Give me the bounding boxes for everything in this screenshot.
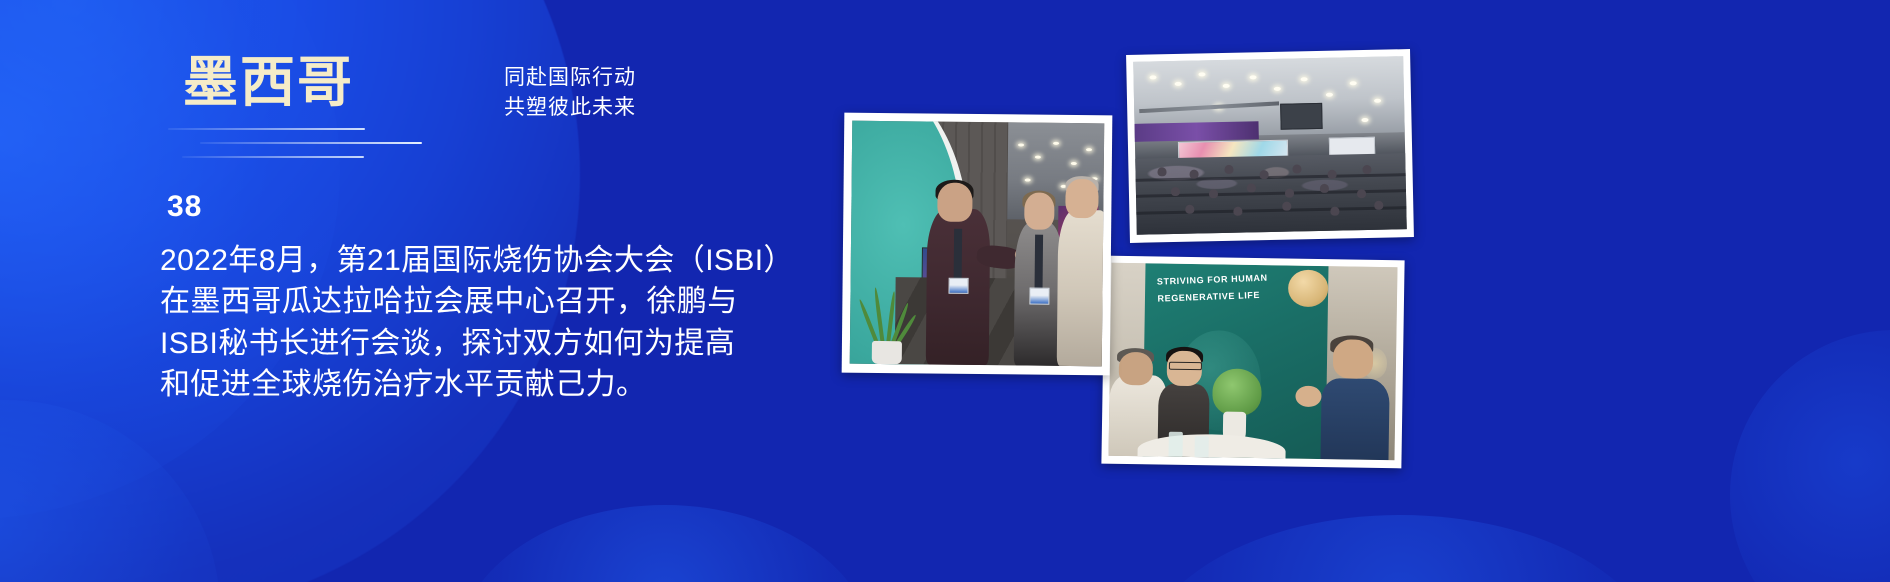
hall-ceiling-light — [1274, 86, 1281, 90]
booth-ceiling-light — [1018, 144, 1024, 147]
audience-head — [1327, 170, 1336, 179]
title-underline-decoration — [160, 128, 420, 170]
booth-person-left-head — [937, 182, 973, 221]
audience-row — [1136, 173, 1406, 182]
audience-head — [1357, 189, 1366, 198]
decor-line-3 — [182, 156, 364, 158]
subtitle-line-1: 同赴国际行动 — [504, 63, 636, 93]
audience-head — [1284, 189, 1293, 198]
audience-head — [1260, 170, 1269, 179]
audience-head — [1157, 167, 1166, 176]
slide-title: 墨西哥 — [183, 55, 354, 110]
audience-head — [1171, 187, 1180, 196]
booth-person-right-head — [1065, 179, 1098, 218]
body-line: 2022年8月，第21届国际烧伤协会大会（ISBI） — [160, 240, 820, 281]
hall-ceiling-light — [1326, 92, 1333, 96]
slide-subtitle: 同赴国际行动 共塑彼此未来 — [504, 63, 636, 123]
audience-head — [1246, 184, 1255, 193]
booth-ceiling-light — [1025, 179, 1031, 182]
booth-badge — [1029, 288, 1049, 305]
meeting-person-center-glasses — [1168, 362, 1202, 370]
booth-lanyard — [1034, 234, 1042, 292]
hall-ceiling-light — [1150, 75, 1157, 79]
meeting-person-left-head — [1118, 352, 1153, 385]
water-bottle — [1194, 436, 1209, 457]
booth-ceiling-light — [1086, 148, 1092, 151]
photo-conference-hall — [1126, 49, 1414, 243]
meeting-person-right-head — [1333, 340, 1374, 379]
booth-ceiling-light — [1053, 142, 1059, 145]
hall-hanging-monitor — [1280, 103, 1323, 130]
subtitle-line-2: 共塑彼此未来 — [504, 93, 636, 123]
conference-hall-image — [1133, 56, 1407, 235]
audience-head — [1362, 164, 1371, 173]
photo-collage: STRIVING FOR HUMAN REGENERATIVE LIFE — [820, 0, 1890, 582]
photo-table-meeting: STRIVING FOR HUMAN REGENERATIVE LIFE — [1101, 256, 1404, 469]
body-line: 在墨西哥瓜达拉哈拉会展中心召开，徐鹏与 — [160, 281, 820, 322]
booth-conversation-image — [850, 121, 1105, 367]
audience-head — [1292, 164, 1301, 173]
booth-ceiling-light — [1070, 162, 1076, 165]
presentation-slide: 墨西哥 同赴国际行动 共塑彼此未来 38 2022年8月，第21届国际烧伤协会大… — [0, 0, 1890, 582]
booth-person-center-head — [1024, 193, 1055, 230]
audience-head — [1224, 164, 1233, 173]
hall-ceiling-light — [1250, 75, 1257, 79]
decor-line-1 — [168, 128, 365, 130]
audience-head — [1282, 201, 1291, 210]
audience-head — [1209, 189, 1218, 198]
booth-badge — [949, 277, 969, 294]
hall-audience — [1135, 153, 1407, 235]
table-plant — [1212, 369, 1261, 416]
water-bottle — [1169, 432, 1184, 457]
photo-booth-conversation — [842, 113, 1113, 376]
page-number: 38 — [167, 190, 202, 224]
table-meeting-image: STRIVING FOR HUMAN REGENERATIVE LIFE — [1109, 263, 1398, 460]
body-line: 和促进全球烧伤治疗水平贡献己力。 — [160, 364, 820, 405]
plant-pot — [872, 341, 902, 365]
audience-head — [1189, 170, 1198, 179]
audience-head — [1319, 184, 1328, 193]
meeting-person-right-body — [1320, 378, 1390, 460]
audience-head — [1374, 201, 1383, 210]
booth-lanyard — [954, 229, 962, 283]
hall-ceiling-light — [1361, 117, 1368, 121]
body-line: ISBI秘书长进行会谈，探讨双方如何为提高 — [160, 323, 820, 364]
hall-ceiling-light — [1174, 82, 1181, 86]
decor-line-2 — [200, 142, 422, 144]
backdrop-sphere-decor — [1288, 269, 1329, 306]
booth-ceiling-light — [1035, 156, 1041, 159]
body-paragraph: 2022年8月，第21届国际烧伤协会大会（ISBI） 在墨西哥瓜达拉哈拉会展中心… — [160, 240, 820, 406]
audience-row — [1136, 206, 1406, 215]
booth-person-right-body — [1056, 210, 1104, 366]
audience-head — [1331, 206, 1340, 215]
booth-potted-plant — [862, 291, 911, 364]
meeting-person-right-hand — [1295, 385, 1321, 407]
audience-head — [1233, 207, 1242, 216]
hall-stage-lighting — [1135, 121, 1260, 141]
hall-ceiling-light — [1374, 98, 1381, 102]
audience-head — [1185, 205, 1194, 214]
